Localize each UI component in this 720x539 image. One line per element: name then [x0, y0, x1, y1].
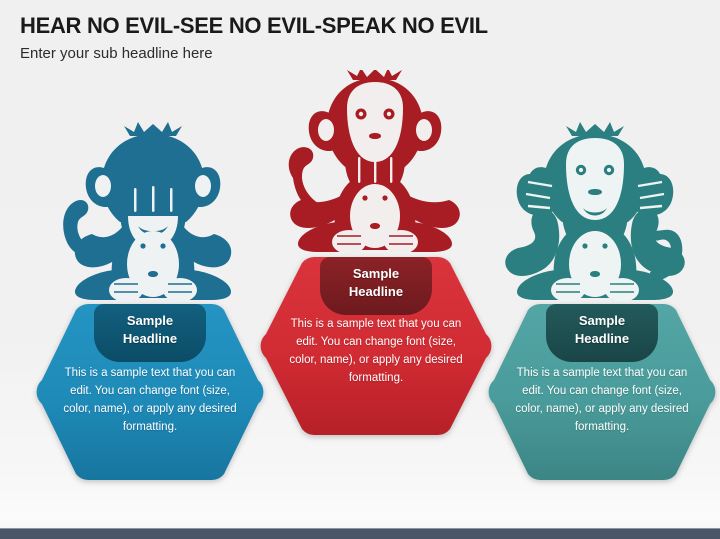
- monkey-covering-mouth-icon: [285, 70, 465, 255]
- info-card-see[interactable]: Sample Headline This is a sample text th…: [36, 302, 264, 482]
- slide-header: HEAR NO EVIL-SEE NO EVIL-SPEAK NO EVIL E…: [20, 14, 700, 63]
- page-title: HEAR NO EVIL-SEE NO EVIL-SPEAK NO EVIL: [20, 14, 700, 38]
- slide-canvas: HEAR NO EVIL-SEE NO EVIL-SPEAK NO EVIL E…: [0, 0, 720, 539]
- monkey-covering-eyes-icon: [58, 112, 248, 302]
- info-card-speak[interactable]: Sample Headline This is a sample text th…: [260, 255, 492, 437]
- bottom-accent-bar: [0, 528, 720, 539]
- info-card-hear[interactable]: Sample Headline This is a sample text th…: [488, 302, 716, 482]
- monkey-covering-ears-icon: [500, 112, 690, 302]
- page-subtitle: Enter your sub headline here: [20, 46, 700, 63]
